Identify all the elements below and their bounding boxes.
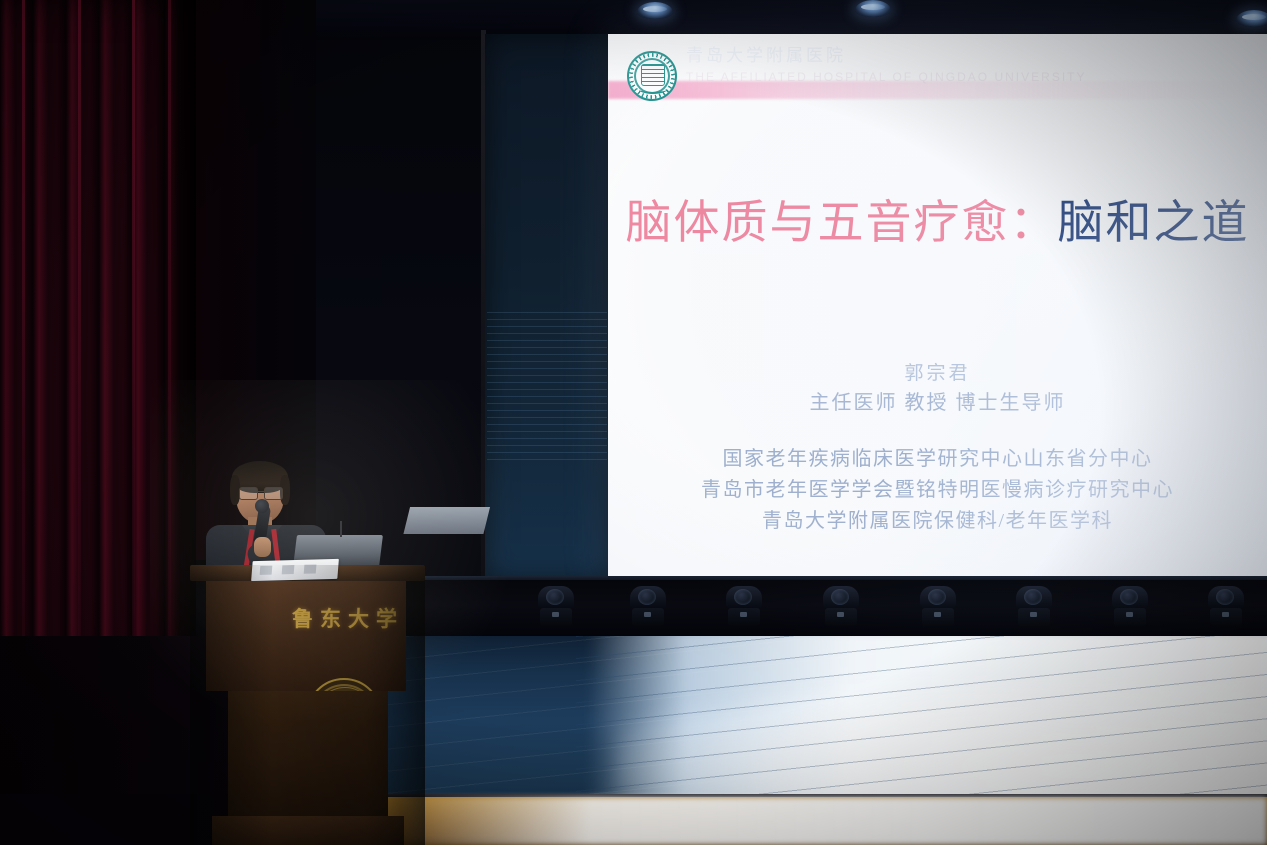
- slide-title-blue: 脑和之道: [1058, 197, 1250, 248]
- ceiling-light-icon: [637, 2, 673, 19]
- moving-head-light-icon: [724, 586, 764, 630]
- presenter-name: 郭宗君: [608, 358, 1267, 385]
- slide-header: 青岛大学附属医院 THE AFFILIATED HOSPITAL OF QING…: [608, 34, 1267, 96]
- presentation-notes: [251, 559, 339, 581]
- stage-lip-highlight: [400, 797, 1267, 845]
- lectern-front-panel: 鲁东大学 U: [206, 581, 406, 691]
- gooseneck-mic-icon: [340, 521, 342, 537]
- affiliation-line: 国家老年疾病临床医学研究中心山东省分中心: [608, 444, 1267, 475]
- qingdao-university-hospital-seal-icon: [627, 51, 677, 101]
- moving-head-light-icon: [1206, 586, 1246, 630]
- lectern: 鲁东大学 U: [190, 565, 425, 845]
- presenter-titles: 主任医师 教授 博士生导师: [608, 386, 1267, 415]
- moving-head-light-icon: [821, 586, 861, 630]
- slide-title: 脑体质与五音疗愈：脑和之道: [608, 186, 1267, 252]
- glasses-icon: [239, 487, 281, 498]
- backdrop-panel-slats: [487, 312, 607, 462]
- lectern-base: [212, 816, 404, 845]
- moving-head-light-icon: [536, 586, 576, 630]
- moving-head-light-icon: [1110, 586, 1150, 630]
- backdrop-panel: [485, 34, 610, 582]
- ceiling-light-icon: [855, 0, 891, 17]
- affiliation-line: 青岛市老年医学学会暨铭特明医慢病诊疗研究中心: [608, 475, 1267, 506]
- slide-header-text: 青岛大学附属医院 THE AFFILIATED HOSPITAL OF QING…: [686, 44, 1087, 86]
- moving-head-light-icon: [918, 586, 958, 630]
- ceiling-light-icon: [1236, 10, 1267, 27]
- lectern-column: [228, 691, 388, 816]
- speaker-hand: [254, 537, 271, 557]
- lectern-engraving: 鲁东大学: [292, 603, 404, 633]
- affiliation-line: 青岛大学附属医院保健科/老年医学科: [608, 506, 1267, 537]
- moving-head-light-icon: [1014, 586, 1054, 630]
- slide-title-pink: 脑体质与五音疗愈：: [626, 197, 1058, 248]
- auditorium-scene: 青岛大学附属医院 THE AFFILIATED HOSPITAL OF QING…: [0, 0, 1267, 845]
- affiliation-list: 国家老年疾病临床医学研究中心山东省分中心 青岛市老年医学学会暨铭特明医慢病诊疗研…: [608, 444, 1267, 537]
- moving-head-light-icon: [628, 586, 668, 630]
- projection-screen: 青岛大学附属医院 THE AFFILIATED HOSPITAL OF QING…: [608, 34, 1267, 580]
- microphone-icon: [255, 499, 269, 513]
